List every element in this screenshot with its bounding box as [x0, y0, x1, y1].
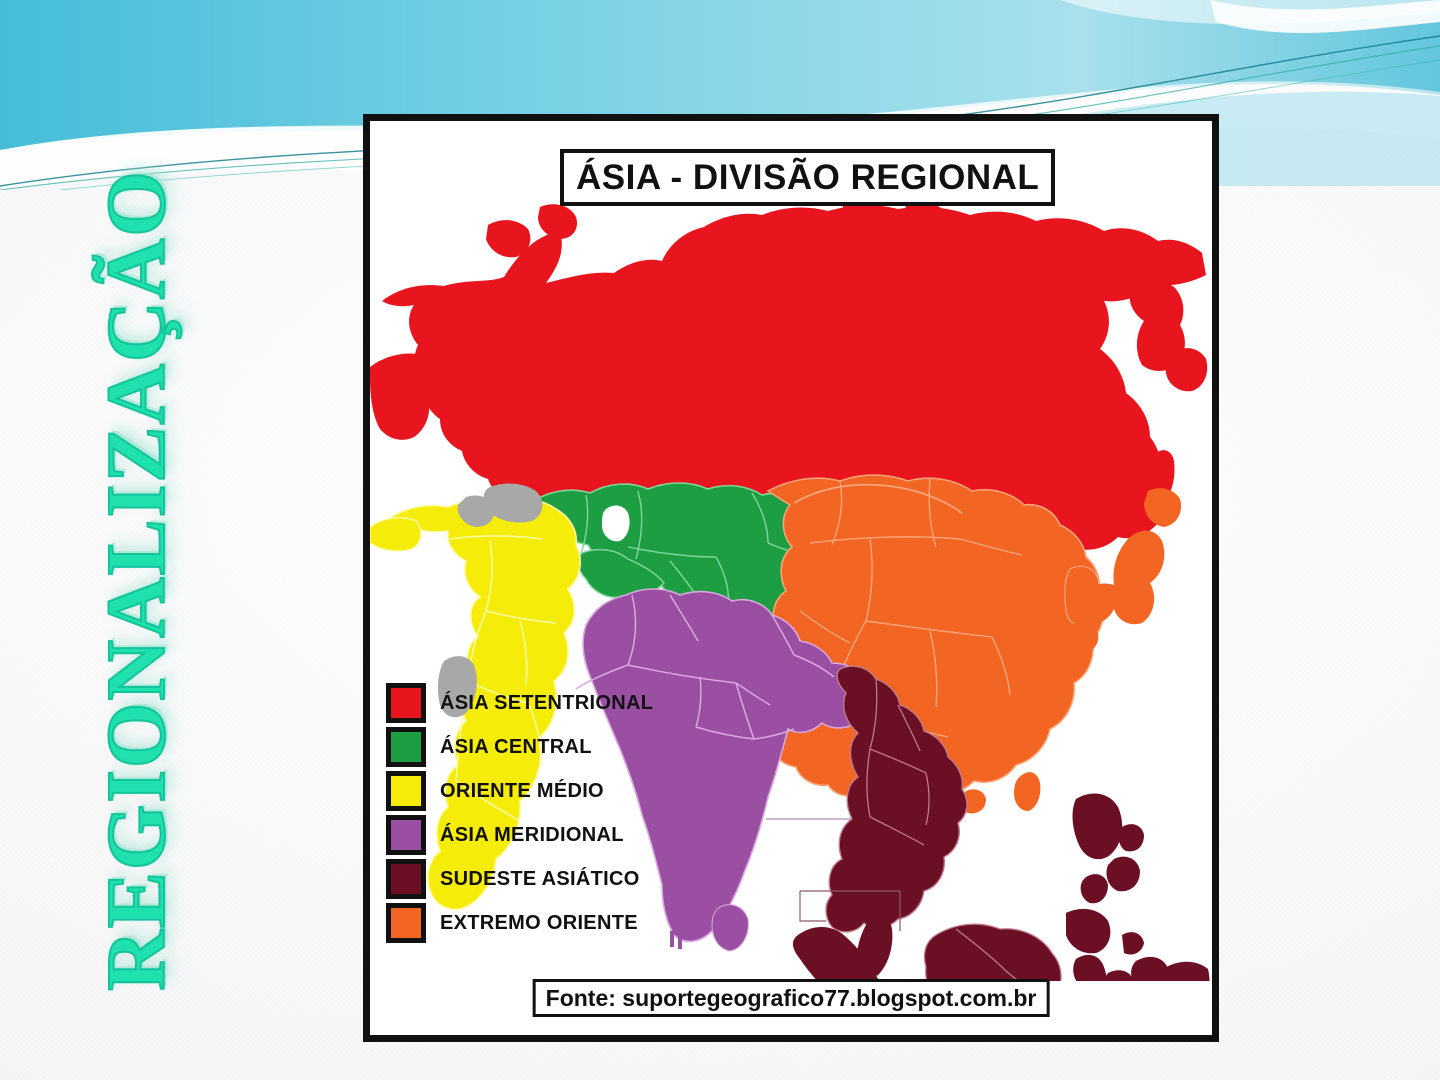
legend-item: SUDESTE ASIÁTICO [386, 857, 653, 901]
legend-label-asia-meridional: ÁSIA MERIDIONAL [440, 824, 624, 847]
legend-label-sudeste-asiatico: SUDESTE ASIÁTICO [440, 868, 640, 891]
legend-swatch-oriente-medio [386, 771, 426, 811]
map-title-box: ÁSIA - DIVISÃO REGIONAL [560, 149, 1055, 206]
map-canvas: ÁSIA - DIVISÃO REGIONAL [370, 121, 1212, 1035]
legend-label-extremo-oriente: EXTREMO ORIENTE [440, 912, 638, 935]
legend-swatch-asia-setentrional [386, 683, 426, 723]
slide-title: REGIONALIZAÇÃO [77, 150, 197, 1010]
legend-label-oriente-medio: ORIENTE MÉDIO [440, 780, 604, 803]
legend-label-asia-setentrional: ÁSIA SETENTRIONAL [440, 692, 653, 715]
map-legend: ÁSIA SETENTRIONAL ÁSIA CENTRAL ORIENTE M… [386, 681, 653, 945]
legend-swatch-asia-meridional [386, 815, 426, 855]
legend-swatch-sudeste-asiatico [386, 859, 426, 899]
map-source-box: Fonte: suportegeografico77.blogspot.com.… [533, 979, 1050, 1017]
slide-title-container: REGIONALIZAÇÃO [22, 120, 252, 980]
legend-label-asia-central: ÁSIA CENTRAL [440, 736, 592, 759]
legend-swatch-asia-central [386, 727, 426, 767]
presentation-slide: REGIONALIZAÇÃO ÁSIA - DIVISÃO REGIONAL [0, 0, 1440, 1080]
legend-item: ÁSIA CENTRAL [386, 725, 653, 769]
legend-item: ÁSIA MERIDIONAL [386, 813, 653, 857]
legend-item: ÁSIA SETENTRIONAL [386, 681, 653, 725]
map-figure: ÁSIA - DIVISÃO REGIONAL [363, 114, 1219, 1042]
map-source-text: Fonte: suportegeografico77.blogspot.com.… [546, 985, 1037, 1011]
map-title: ÁSIA - DIVISÃO REGIONAL [576, 158, 1039, 197]
legend-item: EXTREMO ORIENTE [386, 901, 653, 945]
legend-item: ORIENTE MÉDIO [386, 769, 653, 813]
legend-swatch-extremo-oriente [386, 903, 426, 943]
